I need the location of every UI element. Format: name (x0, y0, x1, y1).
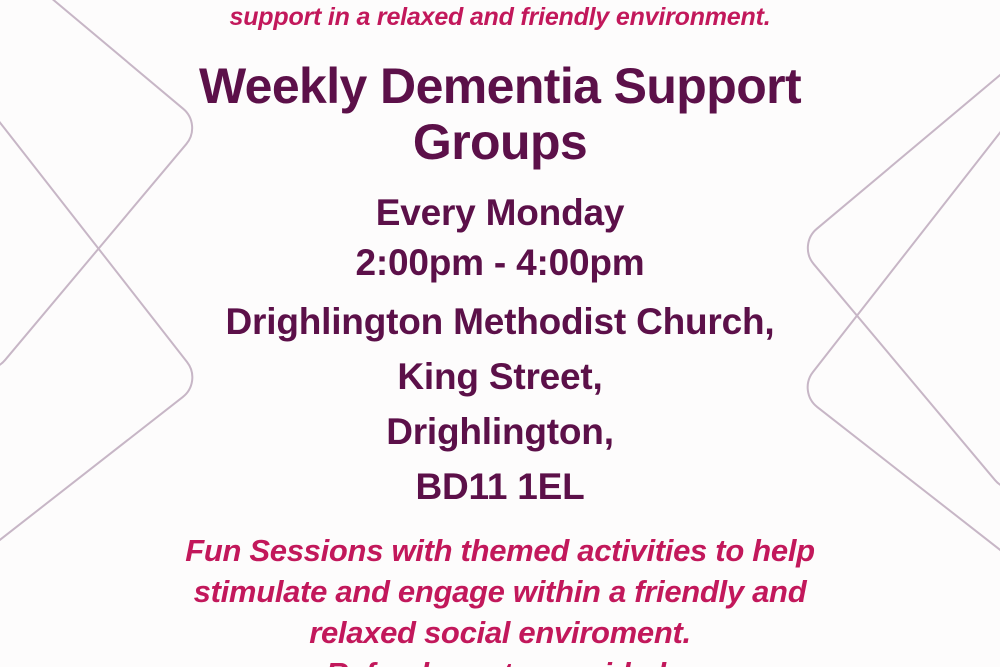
schedule-day: Every Monday (0, 188, 1000, 238)
poster-content: support in a relaxed and friendly enviro… (0, 0, 1000, 667)
description-line-1: Fun Sessions with themed activities to h… (0, 530, 1000, 571)
schedule-block: Every Monday 2:00pm - 4:00pm (0, 170, 1000, 288)
poster-canvas: support in a relaxed and friendly enviro… (0, 0, 1000, 667)
address-line-3: Drighlington, (0, 404, 1000, 459)
description-line-4: Refreshments provided. (0, 653, 1000, 667)
address-line-1: Drighlington Methodist Church, (0, 294, 1000, 349)
address-block: Drighlington Methodist Church, King Stre… (0, 288, 1000, 514)
address-postcode: BD11 1EL (0, 459, 1000, 514)
page-title-line-1: Weekly Dementia Support (199, 58, 801, 114)
tagline-text: support in a relaxed and friendly enviro… (0, 0, 1000, 32)
page-title: Weekly Dementia Support Groups (0, 32, 1000, 170)
schedule-time: 2:00pm - 4:00pm (0, 238, 1000, 288)
description-block: Fun Sessions with themed activities to h… (0, 514, 1000, 667)
page-title-line-2: Groups (413, 114, 587, 170)
address-line-2: King Street, (0, 349, 1000, 404)
description-line-3: relaxed social enviroment. (0, 612, 1000, 653)
description-line-2: stimulate and engage within a friendly a… (0, 571, 1000, 612)
